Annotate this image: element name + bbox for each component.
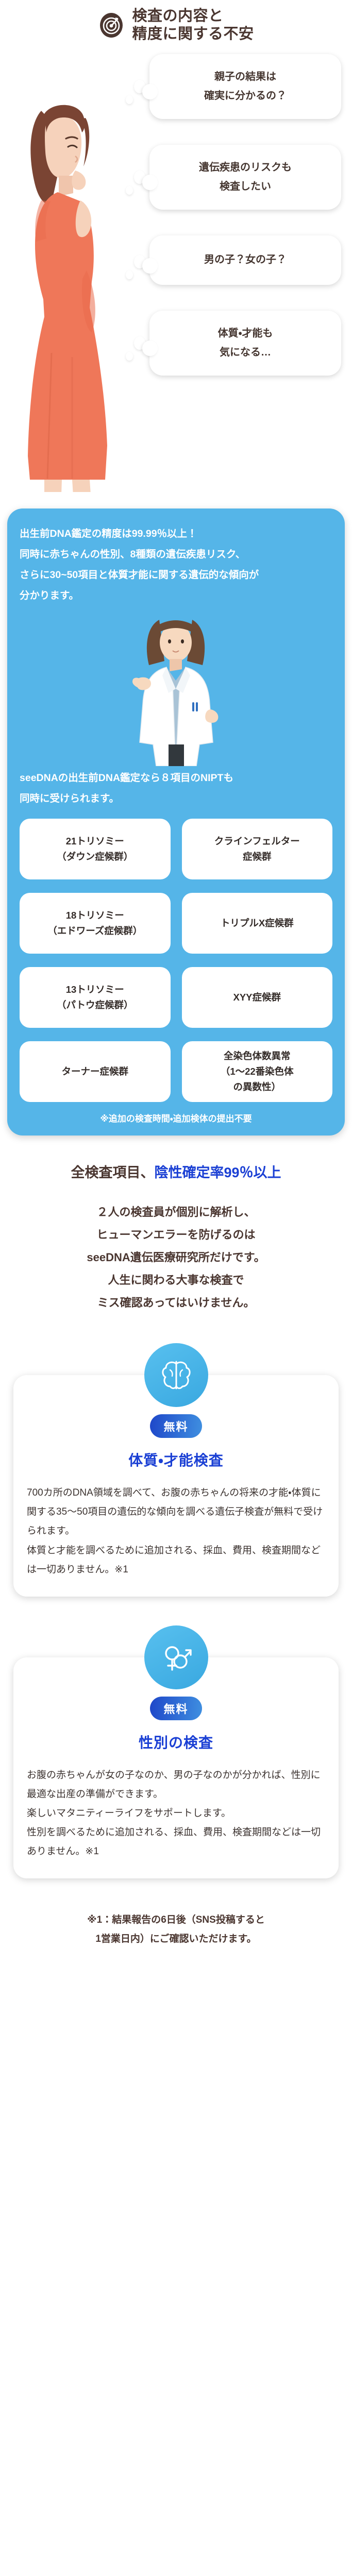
brain-icon — [144, 1343, 208, 1407]
blue-panel-note: ※追加の検査時間・追加検体の提出不要 — [20, 1111, 332, 1124]
condition-box: クラインフェルター 症候群 — [182, 819, 333, 879]
page-header: 検査の内容と 精度に関する不安 — [0, 0, 352, 46]
blue-panel-lead-text: 出生前DNA鑑定の精度は99.99％以上！ 同時に赤ちゃんの性別、8種類の遺伝疾… — [20, 524, 332, 606]
thought-dots-icon — [126, 336, 145, 361]
accuracy-headline-plain: 全検査項目、 — [71, 1165, 154, 1180]
concern-bubble-text: 親子の結果は 確実に分かるの？ — [204, 67, 287, 106]
target-icon — [98, 12, 125, 39]
condition-box: トリプルX症候群 — [182, 893, 333, 954]
thought-dots-icon — [126, 255, 145, 279]
condition-box: 18トリソミー （エドワーズ症候群） — [20, 893, 171, 954]
feature-description: お腹の赤ちゃんが女の子なのか、男の子なのかが分かれば、性別に最適な出産の準備がで… — [27, 1766, 325, 1861]
gender-symbol-icon — [144, 1625, 208, 1689]
feature-title: 性別の検査 — [27, 1732, 325, 1752]
feature-card-constitution-talent: 無料 体質・才能検査 700カ所のDNA領域を調べて、お腹の赤ちゃんの将来の才能… — [13, 1375, 339, 1596]
pregnant-woman-illustration — [14, 75, 123, 492]
accuracy-body-text: ２人の検査員が個別に解析し、 ヒューマンエラーを防げるのは seeDNA遺伝医療… — [5, 1201, 347, 1314]
concern-bubble: 親子の結果は 確実に分かるの？ — [149, 54, 341, 119]
thought-dots-icon — [126, 80, 145, 104]
condition-box: 13トリソミー （パトウ症候群） — [20, 967, 171, 1028]
doctor-illustration-wrap — [20, 612, 332, 766]
condition-box: 21トリソミー （ダウン症候群） — [20, 819, 171, 879]
concern-bubble-text: 体質・才能も 気になる… — [218, 324, 273, 362]
accuracy-section: 全検査項目、陰性確定率99％以上 ２人の検査員が個別に解析し、 ヒューマンエラー… — [0, 1136, 352, 1315]
free-badge: 無料 — [150, 1414, 202, 1438]
blue-info-panel: 出生前DNA鑑定の精度は99.99％以上！ 同時に赤ちゃんの性別、8種類の遺伝疾… — [7, 509, 345, 1136]
footnote-text: ※1：結果報告の6日後（SNS投稿すると 1営業日内）にご確認いただけます。 — [18, 1910, 334, 1948]
concern-bubble-list: 親子の結果は 確実に分かるの？ 遺伝疾患のリスクも 検査したい 男の子？女の子？… — [149, 54, 341, 376]
condition-grid: 21トリソミー （ダウン症候群） クラインフェルター 症候群 18トリソミー （… — [20, 819, 332, 1102]
concern-bubble: 遺伝疾患のリスクも 検査したい — [149, 145, 341, 210]
concern-bubble-text: 遺伝疾患のリスクも 検査したい — [199, 158, 292, 196]
accuracy-headline-blue: 陰性確定率99％以上 — [154, 1165, 281, 1180]
concern-bubble: 男の子？女の子？ — [149, 235, 341, 285]
free-badge: 無料 — [150, 1697, 202, 1720]
nipt-text: seeDNAの出生前DNA鑑定なら８項目のNIPTも 同時に受けられます。 — [20, 768, 332, 809]
concern-bubble-text: 男の子？女の子？ — [204, 250, 287, 269]
page-title: 検査の内容と 精度に関する不安 — [132, 7, 254, 44]
doctor-illustration — [115, 612, 238, 766]
accuracy-headline: 全検査項目、陰性確定率99％以上 — [5, 1163, 347, 1183]
concerns-section: 親子の結果は 確実に分かるの？ 遺伝疾患のリスクも 検査したい 男の子？女の子？… — [0, 49, 352, 497]
condition-box: XYY症候群 — [182, 967, 333, 1028]
condition-box: 全染色体数異常 （1〜22番染色体 の異数性） — [182, 1041, 333, 1102]
feature-title: 体質・才能検査 — [27, 1449, 325, 1470]
feature-card-gender-test: 無料 性別の検査 お腹の赤ちゃんが女の子なのか、男の子なのかが分かれば、性別に最… — [13, 1657, 339, 1878]
feature-description: 700カ所のDNA領域を調べて、お腹の赤ちゃんの将来の才能・体質に関する35〜5… — [27, 1483, 325, 1579]
condition-box: ターナー症候群 — [20, 1041, 171, 1102]
concern-bubble: 体質・才能も 気になる… — [149, 311, 341, 376]
thought-dots-icon — [126, 171, 145, 195]
